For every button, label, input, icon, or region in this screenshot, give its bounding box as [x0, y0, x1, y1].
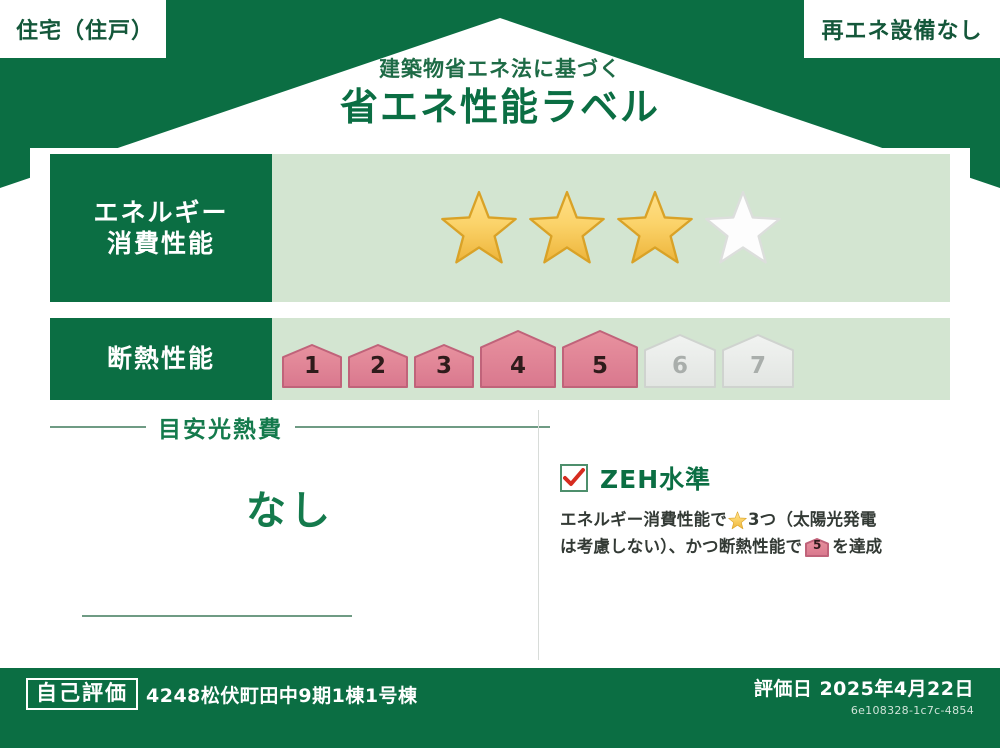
heading-rule-right [295, 426, 550, 428]
check-icon [563, 468, 585, 488]
energy-performance-label: 住宅（住戸） 再エネ設備なし 建築物省エネ法に基づく 省エネ性能ラベル エネルギ… [0, 0, 1000, 748]
insulation-grade-3: 3 [414, 344, 474, 388]
zeh-title: ZEH水準 [600, 460, 711, 496]
panel-vertical-divider [538, 410, 539, 660]
badge-renewable-energy: 再エネ設備なし [804, 0, 1000, 58]
insulation-grade-7: 7 [722, 334, 794, 388]
insulation-grade-5 achieved: 5 [562, 330, 638, 388]
building-name: 4248松伏町田中9期1棟1号棟 [146, 681, 418, 708]
zeh-desc-line1-part1: エネルギー消費性能で [560, 507, 727, 534]
star-filled-icon [616, 189, 694, 267]
zeh-description-line2: は考慮しない）、かつ断熱性能で 5 を達成 [560, 534, 956, 561]
insulation-performance-label-text: 断熱性能 [107, 343, 215, 374]
star-rating [440, 189, 782, 267]
zeh-description: エネルギー消費性能で 3つ（太陽光発電 は考慮しない）、かつ断熱性能で 5 を達… [560, 507, 956, 560]
zeh-checkbox [560, 464, 588, 492]
insulation-grade-area: 1234567 [272, 318, 950, 400]
zeh-description-line1: エネルギー消費性能で 3つ（太陽光発電 [560, 507, 956, 534]
heading-rule-left [50, 426, 146, 428]
energy-performance-label-line2: 消費性能 [107, 228, 215, 259]
utility-cost-heading-text: 目安光熱費 [158, 410, 283, 444]
page-title: 省エネ性能ラベル [0, 85, 1000, 131]
zeh-title-row: ZEH水準 [560, 460, 956, 496]
badge-renewable-energy-label: 再エネ設備なし [821, 13, 982, 45]
insulation-grade-scale: 1234567 [272, 330, 794, 388]
star-filled-icon [440, 189, 518, 267]
utility-cost-bottom-rule [82, 615, 352, 617]
insulation-performance-label: 断熱性能 [50, 318, 272, 400]
title-subtitle: 建築物省エネ法に基づく [0, 58, 1000, 81]
insulation-performance-row: 断熱性能 1234567 [50, 318, 950, 400]
footer-left: 自己評価 4248松伏町田中9期1棟1号棟 [26, 678, 418, 710]
star-filled-icon [528, 189, 606, 267]
insulation-grade-1: 1 [282, 344, 342, 388]
zeh-desc-line1-part2: 3つ（太陽光発電 [748, 507, 877, 534]
insulation-grade-4: 4 [480, 330, 556, 388]
evaluation-date: 評価日 2025年4月22日 [754, 674, 974, 701]
footer-right: 評価日 2025年4月22日 6e108328-1c7c-4854 [754, 674, 974, 717]
zeh-desc-line2-part2: を達成 [832, 534, 882, 561]
utility-cost-heading: 目安光熱費 [50, 410, 550, 444]
insulation-grade-2: 2 [348, 344, 408, 388]
energy-performance-stars-area [272, 154, 950, 302]
energy-performance-label: エネルギー 消費性能 [50, 154, 272, 302]
star-empty-icon [704, 189, 782, 267]
house-grade-icon: 5 [805, 538, 829, 557]
star-icon [728, 511, 747, 530]
energy-performance-row: エネルギー 消費性能 [50, 154, 950, 302]
utility-cost-value: なし [50, 478, 530, 536]
badge-building-type: 住宅（住戸） [0, 0, 166, 58]
label-id: 6e108328-1c7c-4854 [754, 704, 974, 717]
badge-building-type-label: 住宅（住戸） [16, 13, 154, 45]
insulation-grade-6: 6 [644, 334, 716, 388]
evaluation-method-badge: 自己評価 [26, 678, 138, 710]
label-title-block: 建築物省エネ法に基づく 省エネ性能ラベル [0, 58, 1000, 131]
energy-performance-label-line1: エネルギー [93, 197, 228, 228]
zeh-desc-line2-part1: は考慮しない）、かつ断熱性能で [560, 534, 802, 561]
footer: 自己評価 4248松伏町田中9期1棟1号棟 評価日 2025年4月22日 6e1… [0, 660, 1000, 748]
zeh-standard-block: ZEH水準 エネルギー消費性能で 3つ（太陽光発電 は考慮しない）、かつ断熱性能… [560, 460, 956, 560]
main-panel: エネルギー 消費性能 断熱性能 1234567 目安光熱費 なし [30, 148, 970, 660]
